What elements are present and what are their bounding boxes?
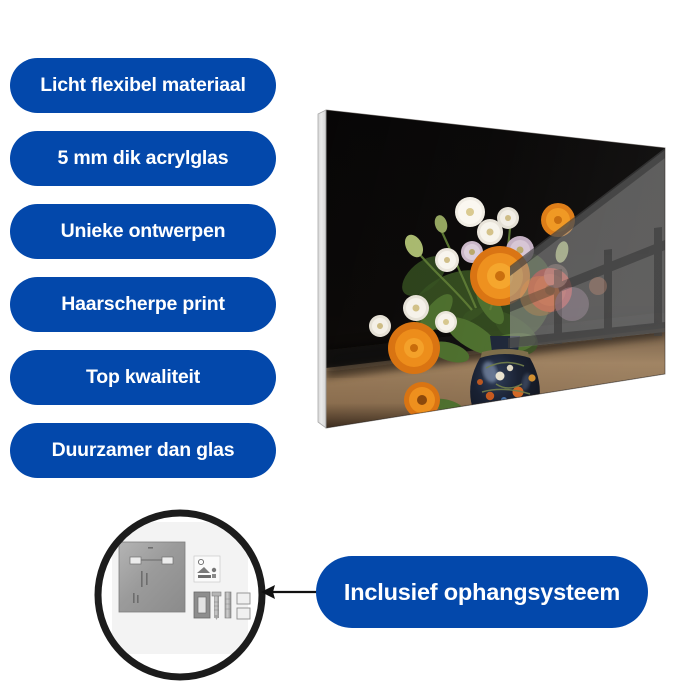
feature-pill-label: 5 mm dik acrylglas (58, 147, 229, 170)
wall-bracket (194, 592, 210, 618)
hanging-kit-circle-inset (94, 509, 266, 681)
feature-pill-label: Top kwaliteit (86, 366, 200, 389)
artwork-face (318, 100, 670, 440)
callout-pill-inclusief-ophangsysteem[interactable]: Inclusief ophangsysteem (316, 556, 648, 628)
product-feature-infographic: Licht flexibel materiaal 5 mm dik acrylg… (0, 0, 700, 700)
instruction-label (194, 556, 220, 582)
callout-pill-label: Inclusief ophangsysteem (344, 579, 620, 606)
feature-pill-label: Haarscherpe print (61, 293, 225, 316)
feature-pill-label: Unieke ontwerpen (61, 220, 226, 243)
feature-pill-unieke-ontwerpen[interactable]: Unieke ontwerpen (10, 204, 276, 259)
feature-pill-label: Licht flexibel materiaal (40, 74, 245, 97)
feature-pill-top-kwaliteit[interactable]: Top kwaliteit (10, 350, 276, 405)
acrylic-panel-product-image (304, 100, 676, 440)
wall-anchor (225, 592, 231, 618)
mounting-plate (119, 542, 185, 612)
feature-pill-5-mm-dik-acrylglas[interactable]: 5 mm dik acrylglas (10, 131, 276, 186)
feature-pill-licht-flexibel-materiaal[interactable]: Licht flexibel materiaal (10, 58, 276, 113)
feature-pill-duurzamer-dan-glas[interactable]: Duurzamer dan glas (10, 423, 276, 478)
feature-pill-label: Duurzamer dan glas (52, 439, 235, 462)
feature-pill-haarscherpe-print[interactable]: Haarscherpe print (10, 277, 276, 332)
